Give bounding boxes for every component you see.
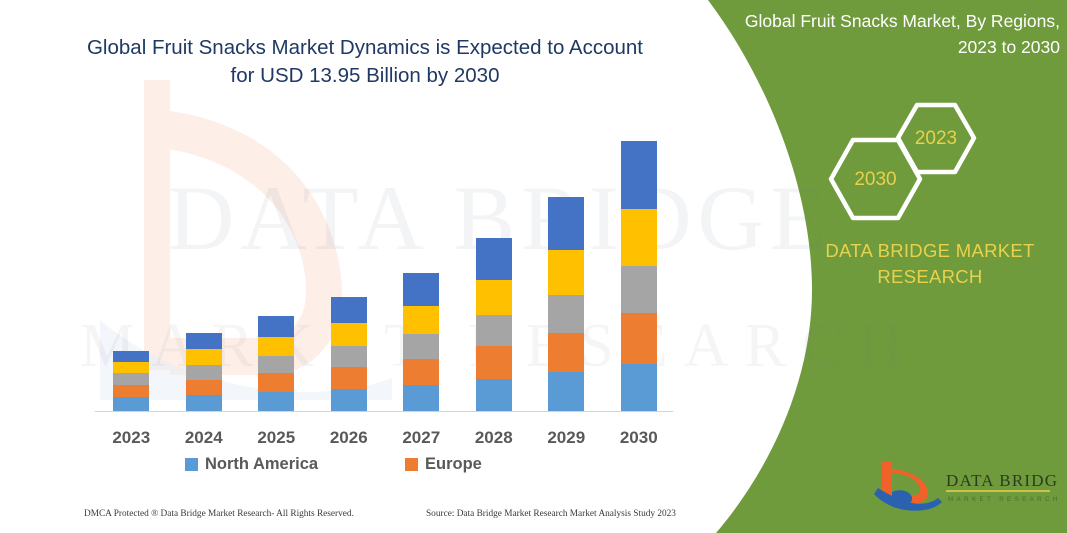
x-tick-2024: 2024	[164, 428, 244, 448]
legend-item-europe[interactable]: Europe	[405, 455, 482, 474]
bar-segment	[548, 333, 584, 373]
bar-2029	[548, 197, 584, 412]
bar-segment	[331, 323, 367, 346]
bar-segment	[186, 395, 222, 412]
bar-segment	[403, 306, 439, 334]
bar-2024	[186, 333, 222, 412]
x-tick-2029: 2029	[526, 428, 606, 448]
bar-segment	[476, 315, 512, 346]
bar-segment	[113, 351, 149, 362]
panel-title: Global Fruit Snacks Market, By Regions, …	[740, 8, 1060, 60]
bar-segment	[621, 209, 657, 266]
chart-legend: North AmericaEurope	[95, 455, 675, 481]
bar-segment	[621, 313, 657, 364]
bar-segment	[476, 379, 512, 412]
bar-segment	[403, 273, 439, 305]
x-tick-2026: 2026	[309, 428, 389, 448]
stacked-bar-chart	[95, 120, 675, 412]
x-axis-line	[95, 411, 673, 412]
bar-segment	[621, 141, 657, 209]
bar-segment	[403, 334, 439, 359]
page-title-line-2: for USD 13.95 Billion by 2030	[231, 64, 500, 87]
footer-dmca-notice: DMCA Protected ® Data Bridge Market Rese…	[84, 509, 354, 519]
hexagon-2023-label: 2023	[895, 128, 977, 150]
bar-segment	[331, 297, 367, 323]
bar-segment	[403, 359, 439, 385]
bar-2030	[621, 141, 657, 412]
bar-segment	[548, 295, 584, 333]
legend-item-north-america[interactable]: North America	[185, 455, 318, 474]
footer-source-note: Source: Data Bridge Market Research Mark…	[426, 509, 676, 519]
bar-segment	[113, 362, 149, 373]
x-tick-2023: 2023	[91, 428, 171, 448]
svg-text:DATA BRIDGE: DATA BRIDGE	[946, 471, 1057, 490]
bar-2028	[476, 238, 512, 412]
bar-segment	[476, 238, 512, 280]
bar-2027	[403, 273, 439, 412]
bar-segment	[548, 372, 584, 412]
bar-segment	[548, 197, 584, 250]
panel-title-line-1: Global Fruit Snacks Market, By Regions,	[745, 11, 1060, 31]
panel-brand-name: DATA BRIDGE MARKET RESEARCH	[790, 238, 1067, 290]
bar-segment	[331, 346, 367, 367]
panel-brand-line-1: DATA BRIDGE MARKET	[825, 240, 1034, 261]
bar-segment	[548, 250, 584, 295]
bar-segment	[621, 266, 657, 313]
x-tick-2027: 2027	[381, 428, 461, 448]
bar-segment	[476, 346, 512, 378]
bar-segment	[186, 333, 222, 350]
bar-segment	[331, 389, 367, 412]
x-tick-2025: 2025	[236, 428, 316, 448]
legend-swatch-icon	[405, 458, 418, 471]
bar-segment	[621, 364, 657, 412]
page-title-line-1: Global Fruit Snacks Market Dynamics is E…	[87, 36, 643, 59]
page-title: Global Fruit Snacks Market Dynamics is E…	[40, 34, 690, 90]
bar-segment	[476, 280, 512, 315]
legend-label: North America	[205, 455, 318, 474]
bar-2025	[258, 316, 294, 412]
bar-segment	[258, 316, 294, 337]
bar-segment	[258, 392, 294, 412]
legend-swatch-icon	[185, 458, 198, 471]
panel-title-line-2: 2023 to 2030	[958, 37, 1060, 57]
x-tick-2028: 2028	[454, 428, 534, 448]
bar-segment	[258, 373, 294, 392]
bar-2026	[331, 297, 367, 412]
legend-label: Europe	[425, 455, 482, 474]
bar-segment	[186, 349, 222, 365]
bar-segment	[186, 380, 222, 396]
bar-2023	[113, 351, 149, 413]
bar-segment	[258, 356, 294, 374]
bar-segment	[186, 365, 222, 380]
x-tick-2030: 2030	[599, 428, 679, 448]
infographic-canvas: DATA BRIDGE MARKET RESEARCH Global Fruit…	[0, 0, 1067, 533]
data-bridge-logo: DATA BRIDGE MARKET RESEARCH	[872, 458, 1057, 514]
bar-segment	[113, 385, 149, 398]
bar-segment	[403, 385, 439, 412]
bar-segment	[258, 337, 294, 356]
bar-segment	[331, 367, 367, 389]
bar-segment	[113, 397, 149, 412]
svg-text:MARKET RESEARCH: MARKET RESEARCH	[948, 496, 1057, 503]
bar-segment	[113, 373, 149, 384]
panel-brand-line-2: RESEARCH	[877, 266, 982, 287]
